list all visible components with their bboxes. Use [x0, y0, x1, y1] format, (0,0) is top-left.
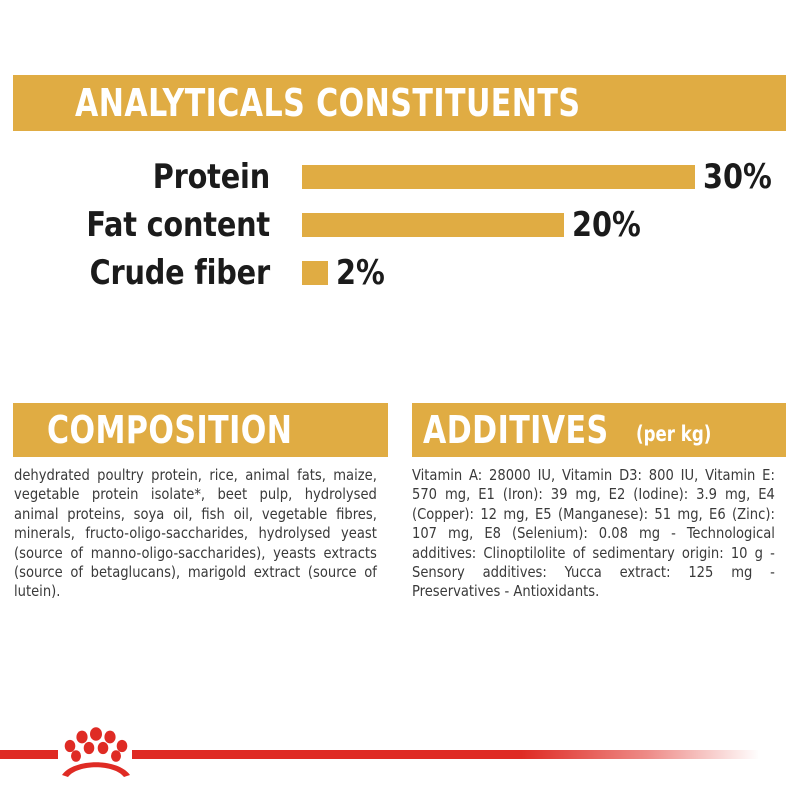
analyticals-title: ANALYTICALS CONSTITUENTS — [75, 81, 581, 125]
royal-canin-crown-icon — [56, 725, 136, 779]
analyticals-constituents-header: ANALYTICALS CONSTITUENTS — [13, 75, 786, 131]
chart-row-crude-fiber: Crude fiber 2% — [0, 251, 800, 297]
nutrition-panel: ANALYTICALS CONSTITUENTS Protein 30% Fat… — [0, 0, 800, 800]
additives-subtitle: (per kg) — [636, 422, 711, 446]
chart-row-fat-content: Fat content 20% — [0, 203, 800, 249]
chart-value-protein: 30% — [703, 155, 772, 199]
chart-value-crude-fiber: 2% — [336, 251, 385, 295]
chart-value-fat-content: 20% — [572, 203, 641, 247]
composition-title: COMPOSITION — [47, 408, 292, 452]
additives-body-text: Vitamin A: 28000 IU, Vitamin D3: 800 IU,… — [412, 466, 775, 602]
chart-label-fat-content: Fat content — [16, 203, 270, 247]
analyticals-bar-chart: Protein 30% Fat content 20% Crude fiber … — [0, 155, 800, 305]
chart-bar-protein — [302, 165, 695, 189]
chart-label-protein: Protein — [16, 155, 270, 199]
chart-label-crude-fiber: Crude fiber — [16, 251, 270, 295]
composition-body-text: dehydrated poultry protein, rice, animal… — [14, 466, 377, 602]
brand-rule-right-segment — [132, 750, 760, 759]
additives-header: ADDITIVES (per kg) — [412, 403, 786, 457]
composition-header: COMPOSITION — [13, 403, 388, 457]
chart-bar-crude-fiber — [302, 261, 328, 285]
chart-bar-fat-content — [302, 213, 564, 237]
additives-title: ADDITIVES — [423, 408, 609, 452]
brand-rule-left-segment — [0, 750, 58, 759]
chart-row-protein: Protein 30% — [0, 155, 800, 201]
